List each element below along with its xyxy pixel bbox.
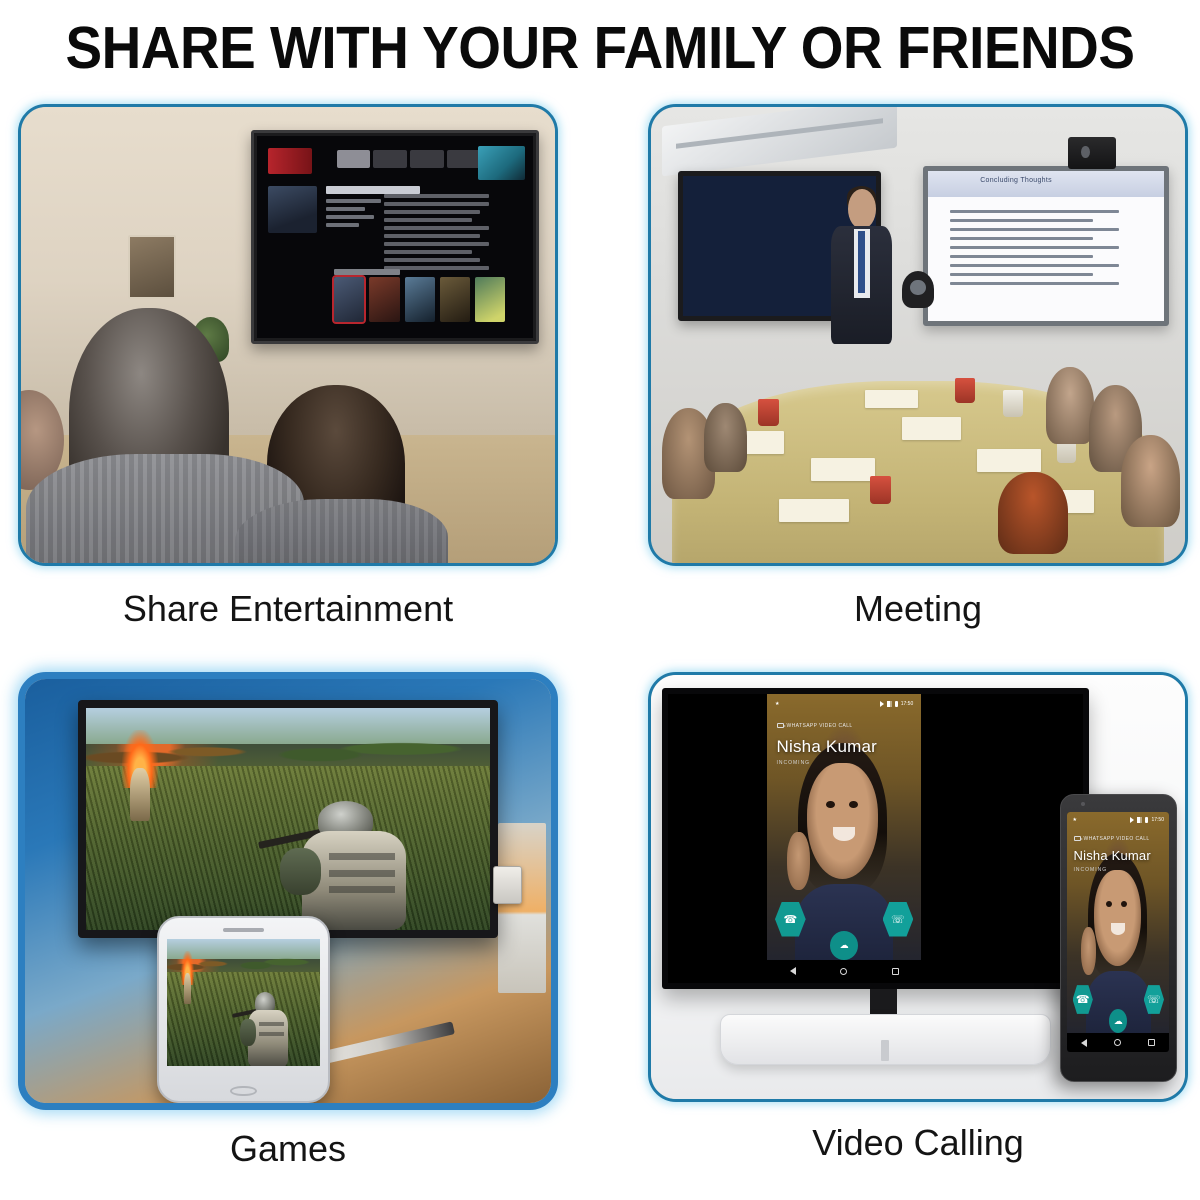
tv-guide-tabs <box>337 150 481 168</box>
panel-meeting: Concluding Thoughts <box>648 104 1188 664</box>
television: ★ 17:50 <box>662 688 1089 989</box>
call-app-label: WHATSAPP VIDEO CALL <box>777 723 853 729</box>
battery-icon <box>1145 817 1148 823</box>
living-room-photo <box>21 107 555 563</box>
android-status-bar: ★ 17:50 <box>1067 812 1169 829</box>
call-state: INCOMING <box>1074 867 1108 873</box>
attendee <box>704 403 747 471</box>
panel-image-frame-4: ★ 17:50 <box>648 672 1188 1102</box>
video-camera-icon <box>1074 836 1081 841</box>
enemy-character <box>130 768 150 821</box>
dish-logo-icon <box>268 148 312 174</box>
call-state: INCOMING <box>777 760 811 766</box>
notification-icon: ★ <box>775 701 779 707</box>
desk-webcam-icon <box>902 271 934 307</box>
movie-title-bar <box>326 186 420 194</box>
smartphone <box>157 916 331 1103</box>
panel-share-entertainment: Share Entertainment <box>18 104 558 664</box>
front-camera-icon <box>1081 802 1085 806</box>
panel-video-calling: ★ 17:50 <box>648 672 1188 1120</box>
cup <box>1003 390 1022 417</box>
paper <box>902 417 961 440</box>
attendee <box>1121 435 1180 526</box>
back-icon[interactable] <box>1081 1039 1087 1047</box>
panel-grid: Share Entertainment Concluding Thoughts <box>0 104 1200 1200</box>
presenter <box>827 189 896 344</box>
panel-image-frame-3: SINGER <box>18 672 558 1110</box>
signal-icon <box>1130 817 1134 823</box>
paper <box>977 449 1041 472</box>
battle-royale-scene <box>86 708 491 929</box>
smartphone: ★ 17:50 <box>1060 794 1177 1082</box>
slide-title: Concluding Thoughts <box>980 177 1052 184</box>
movie-synopsis <box>384 194 489 274</box>
movie-meta <box>326 199 381 231</box>
android-nav-bar <box>1067 1033 1169 1052</box>
battery-icon <box>895 701 898 707</box>
paper <box>811 458 875 481</box>
related-titles-row <box>334 277 505 322</box>
paper <box>779 499 848 522</box>
wall-panel <box>498 823 545 993</box>
video-camera-icon <box>777 723 784 728</box>
phone-speaker <box>223 928 264 933</box>
tab-favorites <box>337 150 371 168</box>
related-tile <box>334 277 364 322</box>
movie-poster <box>268 186 318 233</box>
status-time: 17:50 <box>1151 817 1164 823</box>
caller-name: Nisha Kumar <box>1074 848 1151 863</box>
panel-caption-games: Games <box>18 1128 558 1170</box>
picture-frame <box>128 235 176 299</box>
paper <box>865 390 918 408</box>
cup <box>758 399 779 426</box>
recents-icon[interactable] <box>892 968 899 975</box>
product-infographic: SHARE WITH YOUR FAMILY OR FRIENDS <box>0 0 1200 1200</box>
wall-mounted-tv <box>251 130 539 344</box>
viewer-child-sweater <box>235 499 449 563</box>
tab-movies <box>410 150 444 168</box>
switch-camera-button[interactable]: ☁ <box>830 931 858 960</box>
phone-screen-mirror <box>167 939 320 1067</box>
home-icon[interactable] <box>840 968 847 975</box>
caller-name: Nisha Kumar <box>777 737 877 757</box>
panel-caption-share-entertainment: Share Entertainment <box>18 588 558 630</box>
tab-kids <box>447 150 481 168</box>
android-nav-bar <box>767 960 921 983</box>
cup <box>955 378 974 403</box>
android-status-bar: ★ 17:50 <box>767 694 921 714</box>
slide-bullets <box>950 210 1134 291</box>
related-row-caption <box>334 269 400 275</box>
hdmi-adapter-icon <box>493 866 522 904</box>
related-tile <box>475 277 505 322</box>
cup <box>870 476 891 503</box>
tv-screen: ★ 17:50 <box>668 694 1083 983</box>
status-time: 17:50 <box>901 701 914 707</box>
caller-hand <box>787 832 810 890</box>
related-tile <box>369 277 399 322</box>
panel-caption-meeting: Meeting <box>648 588 1188 630</box>
tv-game-scene <box>86 708 491 929</box>
wifi-icon <box>887 701 892 707</box>
whiteboard-projection: Concluding Thoughts <box>923 166 1169 326</box>
recents-icon[interactable] <box>1148 1039 1155 1046</box>
whatsapp-call-screen: ★ 17:50 <box>767 694 921 983</box>
wifi-icon <box>1137 817 1142 823</box>
stand-badge <box>881 1040 890 1061</box>
caller-face <box>807 763 878 879</box>
panel-image-frame-2: Concluding Thoughts <box>648 104 1188 566</box>
panel-games: SINGER <box>18 672 558 1132</box>
phone-call-screen: ★ 17:50 <box>1067 812 1169 1053</box>
signal-icon <box>880 701 884 707</box>
tv-screen-content <box>257 136 533 338</box>
back-icon[interactable] <box>790 967 796 975</box>
attendee <box>998 472 1067 554</box>
webcam-icon <box>1068 137 1116 169</box>
phone-home-button[interactable] <box>230 1086 257 1097</box>
call-app-label: WHATSAPP VIDEO CALL <box>1074 836 1150 842</box>
games-photo: SINGER <box>25 679 551 1103</box>
page-title: SHARE WITH YOUR FAMILY OR FRIENDS <box>42 14 1158 82</box>
related-tile <box>440 277 470 322</box>
mirrored-call-view: ★ 17:50 <box>767 694 921 983</box>
video-calling-photo: ★ 17:50 <box>651 675 1185 1099</box>
attendee <box>1046 367 1094 445</box>
related-tile <box>405 277 435 322</box>
panel-caption-video-calling: Video Calling <box>648 1122 1188 1164</box>
player-character <box>288 801 426 929</box>
home-icon[interactable] <box>1114 1039 1121 1046</box>
panel-image-frame-1 <box>18 104 558 566</box>
game-tv: SINGER <box>78 700 499 937</box>
meeting-room-photo: Concluding Thoughts <box>651 107 1185 563</box>
tab-tv <box>373 150 407 168</box>
tv-preview-thumb <box>478 146 525 180</box>
